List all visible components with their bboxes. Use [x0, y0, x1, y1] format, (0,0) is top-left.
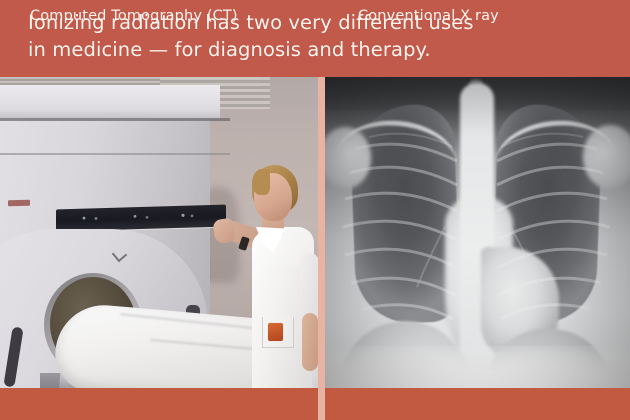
panel-computed-tomography	[0, 77, 318, 388]
panel-conventional-x-ray	[325, 77, 630, 388]
slide: Ionizing radiation has two very differen…	[0, 0, 630, 420]
ct-gantry-top-panel	[0, 85, 220, 119]
nurse-hand	[212, 218, 235, 245]
nurse-badge	[268, 323, 283, 341]
nurse-hair-front	[252, 169, 270, 195]
caption-computed-tomography: Computed Tomography (CT)	[30, 0, 238, 32]
ct-gantry-seam	[0, 118, 230, 121]
ct-gantry-seam-lower	[0, 153, 230, 155]
chest-radiograph	[325, 77, 630, 388]
panel-divider	[318, 77, 325, 420]
caption-bar	[0, 388, 630, 420]
caption-divider	[318, 388, 325, 420]
xray-vignette	[325, 77, 630, 388]
image-panels	[0, 77, 630, 388]
ct-scanner-photo	[0, 77, 318, 388]
nurse-right-forearm	[302, 313, 318, 371]
ct-brand-marking	[8, 200, 30, 207]
caption-conventional-x-ray: Conventional X ray	[358, 0, 499, 32]
